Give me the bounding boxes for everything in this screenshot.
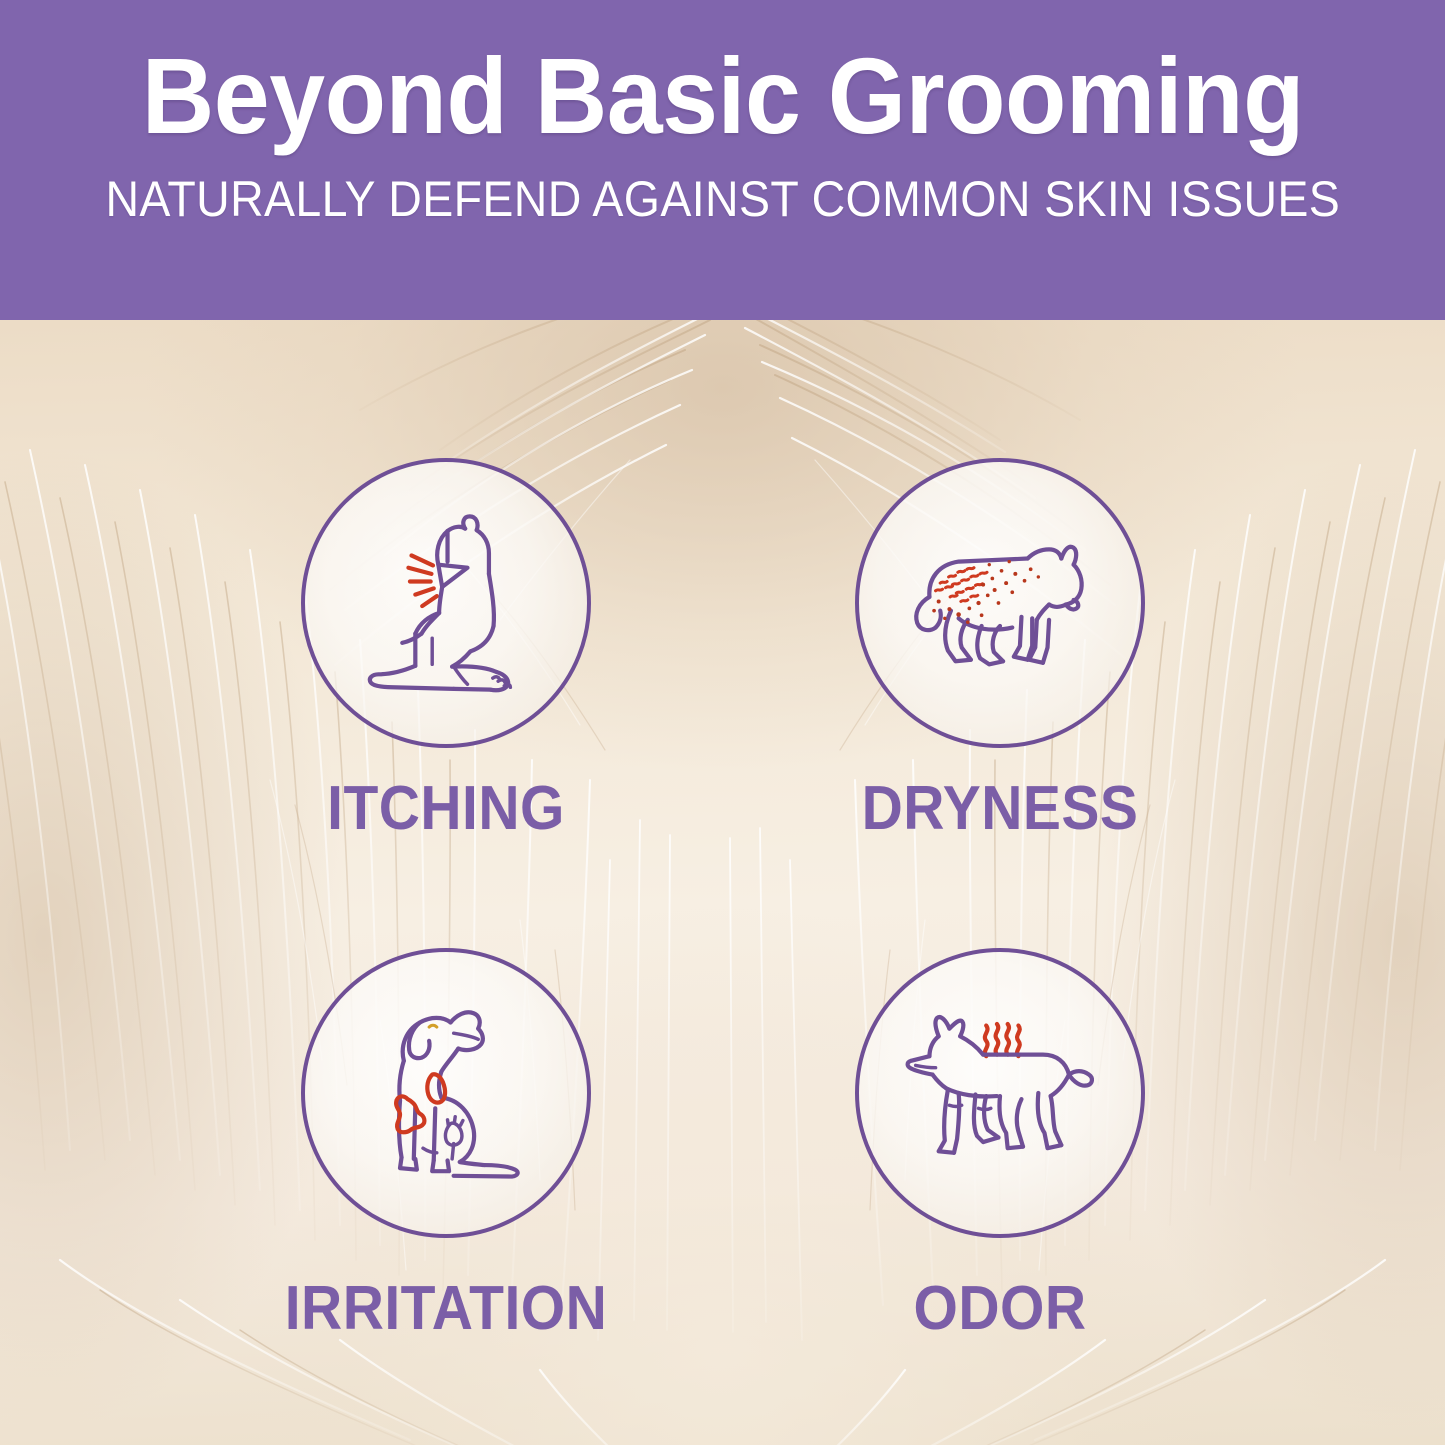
page-subtitle: NATURALLY DEFEND AGAINST COMMON SKIN ISS… xyxy=(105,174,1340,224)
dog-scratching-icon xyxy=(301,458,591,748)
issue-item-dryness[interactable]: DRYNESS xyxy=(770,458,1230,840)
issue-label: DRYNESS xyxy=(788,778,1211,840)
dog-odor-icon xyxy=(855,948,1145,1238)
dog-flaky-skin-icon xyxy=(855,458,1145,748)
infographic-page: Beyond Basic Grooming NATURALLY DEFEND A… xyxy=(0,0,1445,1445)
issue-item-itching[interactable]: ITCHING xyxy=(216,458,676,840)
header-banner: Beyond Basic Grooming NATURALLY DEFEND A… xyxy=(0,0,1445,320)
skin-issues-grid: ITCHING xyxy=(0,320,1445,1445)
dog-irritated-skin-icon xyxy=(301,948,591,1238)
issue-label: ODOR xyxy=(788,1278,1211,1340)
issue-label: IRRITATION xyxy=(234,1278,657,1340)
issue-item-irritation[interactable]: IRRITATION xyxy=(216,948,676,1340)
page-title: Beyond Basic Grooming xyxy=(141,42,1303,150)
issue-item-odor[interactable]: ODOR xyxy=(770,948,1230,1340)
issue-label: ITCHING xyxy=(234,778,657,840)
